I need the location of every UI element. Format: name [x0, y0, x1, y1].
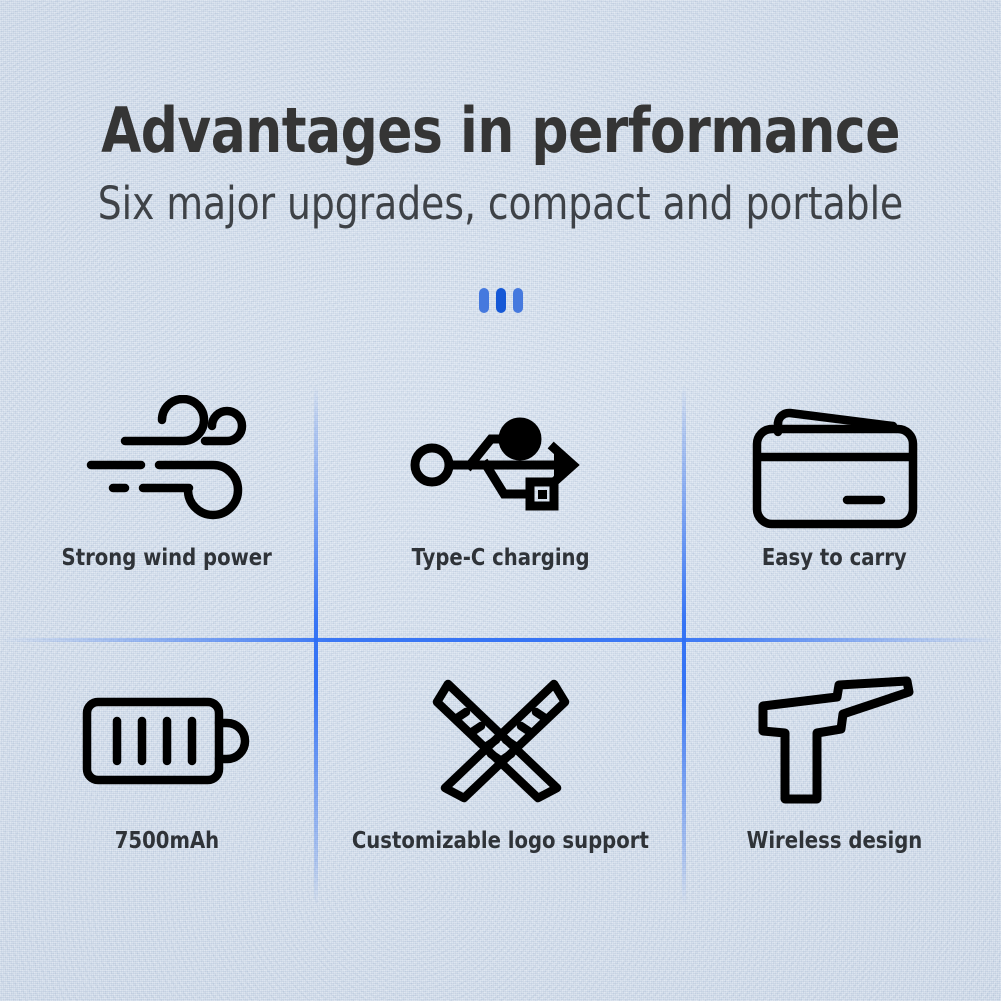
feature-label: Easy to carry: [762, 545, 907, 571]
decorative-dots: [0, 288, 1001, 313]
feature-grid: Strong wind power Type-C charging: [0, 385, 1001, 905]
feature-item-easy-to-carry: Easy to carry: [668, 385, 1001, 640]
page-subtitle: Six major upgrades, compact and portable: [35, 179, 966, 229]
usb-icon: [408, 385, 594, 545]
feature-item-type-c-charging: Type-C charging: [334, 385, 667, 640]
crossed-rulers-icon: [426, 653, 576, 828]
battery-icon: [81, 653, 253, 828]
dot-middle: [496, 288, 506, 313]
feature-item-battery-capacity: 7500mAh: [0, 653, 333, 908]
page-title: Advantages in performance: [35, 98, 966, 163]
feature-item-wireless-design: Wireless design: [668, 653, 1001, 908]
wind-icon: [81, 385, 253, 545]
briefcase-icon: [747, 385, 923, 545]
feature-label: Wireless design: [747, 828, 923, 854]
feature-label: Type-C charging: [412, 545, 590, 571]
header: Advantages in performance Six major upgr…: [0, 98, 1001, 229]
feature-label: Strong wind power: [61, 545, 271, 571]
dot-right: [513, 288, 523, 313]
product-feature-poster: Advantages in performance Six major upgr…: [0, 0, 1001, 1001]
blower-gun-icon: [751, 653, 919, 828]
feature-label: 7500mAh: [114, 828, 218, 854]
dot-left: [479, 288, 489, 313]
feature-label: Customizable logo support: [352, 828, 649, 854]
feature-item-strong-wind-power: Strong wind power: [0, 385, 333, 640]
feature-item-customizable-logo: Customizable logo support: [334, 653, 667, 908]
